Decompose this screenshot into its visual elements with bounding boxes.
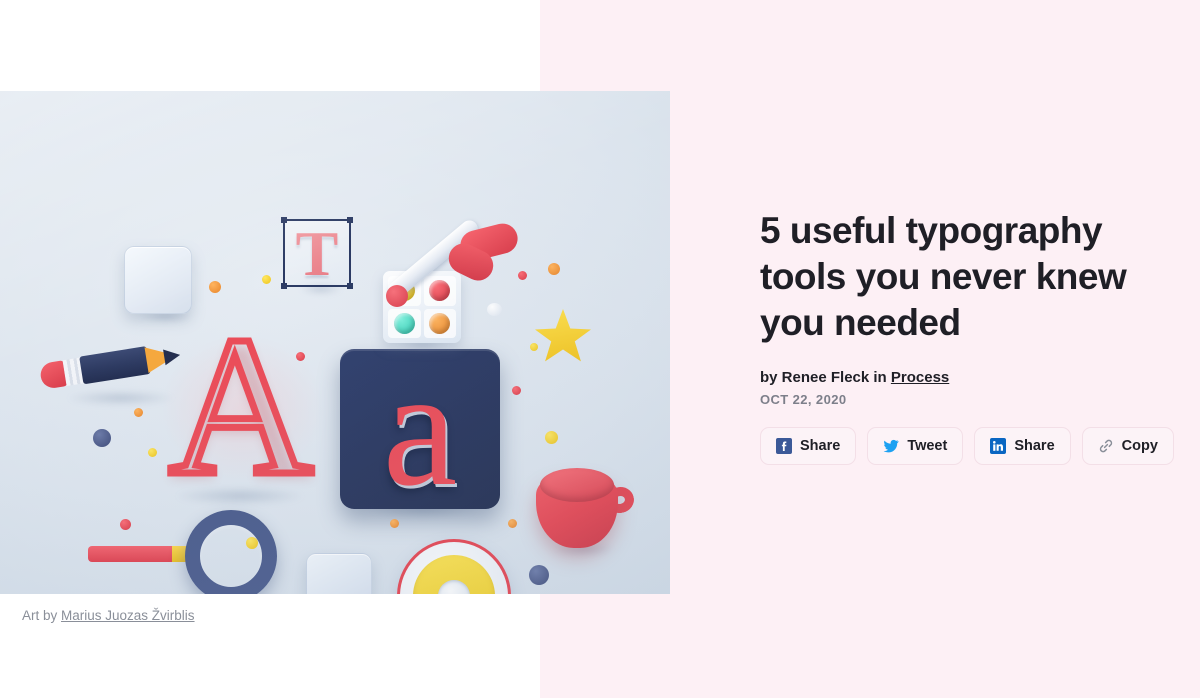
copy-link-label: Copy [1122, 438, 1158, 454]
page-title: 5 useful typography tools you never knew… [760, 208, 1170, 346]
share-buttons-row: Share Tweet Share [760, 427, 1170, 465]
article-content: 5 useful typography tools you never knew… [760, 208, 1170, 465]
byline-publication-link[interactable]: Process [891, 369, 949, 386]
facebook-share-label: Share [800, 438, 840, 454]
eyedropper-tip [386, 285, 408, 307]
hero-image: T A a [0, 91, 670, 594]
cup-rim [540, 468, 614, 502]
byline: by Renee Fleck in Process [760, 369, 1170, 386]
linkedin-icon [990, 438, 1006, 454]
sphere [93, 429, 111, 447]
twitter-share-label: Tweet [907, 438, 947, 454]
sphere [120, 519, 131, 530]
article-page: T A a [0, 0, 1200, 698]
caption-prefix: Art by [22, 608, 61, 623]
sphere [296, 352, 305, 361]
byline-author: by Renee Fleck in [760, 369, 891, 386]
sphere [390, 519, 399, 528]
hero-illustration: T A a [0, 91, 670, 594]
eyedropper-icon [400, 231, 520, 351]
square-plate-bottom-icon [306, 553, 372, 594]
linkedin-share-button[interactable]: Share [974, 427, 1070, 465]
handle-bottom-right [347, 283, 353, 289]
sphere [148, 448, 157, 457]
twitter-share-button[interactable]: Tweet [867, 427, 963, 465]
sphere [548, 263, 560, 275]
sphere [508, 519, 517, 528]
image-caption: Art by Marius Juozas Žvirblis [22, 608, 195, 623]
handle-bottom-left [281, 283, 287, 289]
facebook-icon [776, 438, 792, 454]
letter-A-outline-glyph: A [146, 317, 336, 497]
sphere [530, 343, 538, 351]
handle-top-left [281, 217, 287, 223]
link-icon [1098, 438, 1114, 454]
twitter-icon [883, 438, 899, 454]
sphere [246, 537, 258, 549]
sphere [512, 386, 521, 395]
publish-date: OCT 22, 2020 [760, 392, 1170, 407]
sphere [487, 303, 502, 316]
sphere [529, 565, 549, 585]
sphere [209, 281, 221, 293]
letter-a-glyph: a [340, 339, 500, 517]
sphere [134, 408, 143, 417]
sphere [545, 431, 558, 444]
facebook-share-button[interactable]: Share [760, 427, 856, 465]
star-icon [535, 309, 591, 363]
magnifier-icon [185, 510, 277, 594]
sphere [518, 271, 527, 280]
sphere [262, 275, 271, 284]
handle-top-right [347, 217, 353, 223]
linkedin-share-label: Share [1014, 438, 1054, 454]
copy-link-button[interactable]: Copy [1082, 427, 1174, 465]
selection-box-icon [283, 219, 351, 287]
caption-artist-link[interactable]: Marius Juozas Žvirblis [61, 608, 195, 623]
magnifier-handle [88, 546, 180, 562]
